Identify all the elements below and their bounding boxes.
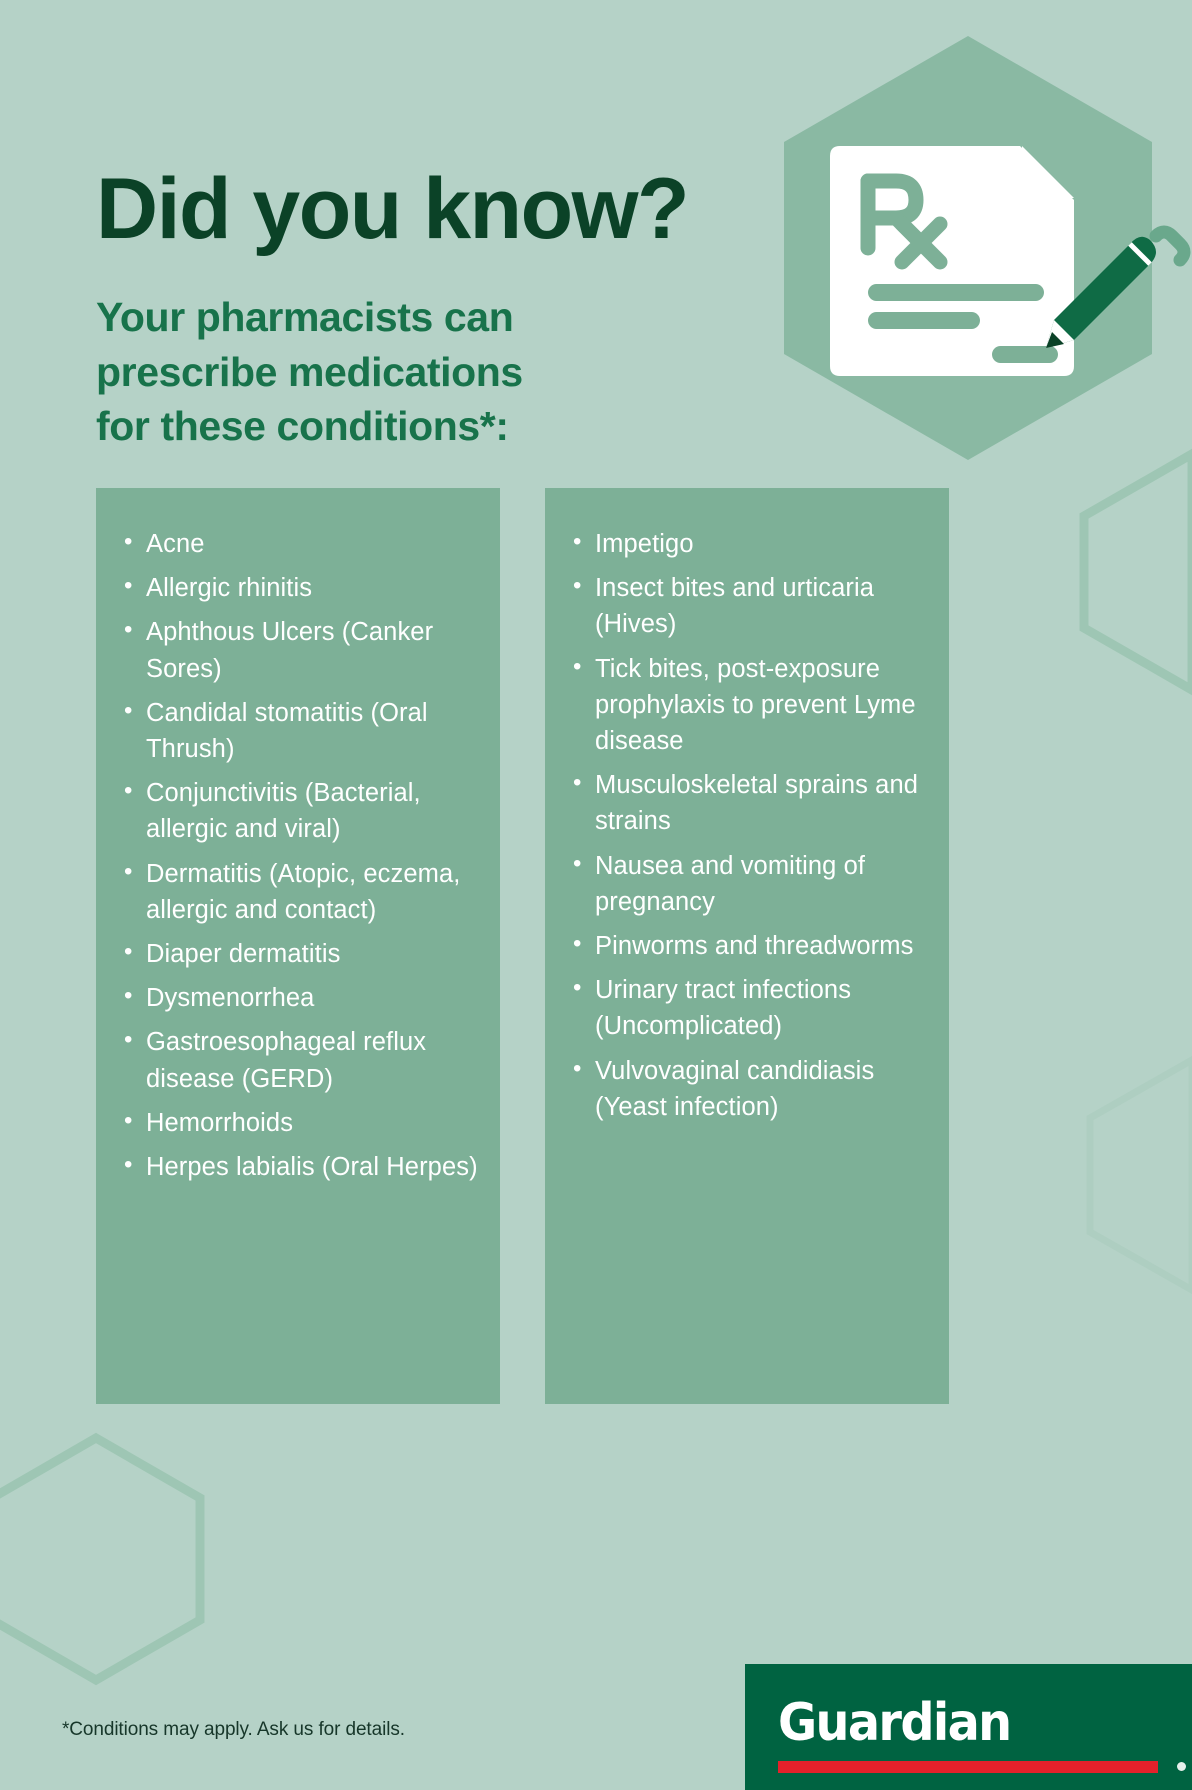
conditions-list-left: Acne Allergic rhinitis Aphthous Ulcers (… xyxy=(96,488,500,1185)
list-item: Conjunctivitis (Bacterial, allergic and … xyxy=(122,775,482,847)
page-title: Did you know? xyxy=(96,166,688,252)
list-item: Impetigo xyxy=(571,526,931,562)
list-item: Dysmenorrhea xyxy=(122,980,482,1016)
rx-prescription-pen-icon xyxy=(744,36,1192,496)
guardian-logo-red-bar xyxy=(778,1761,1158,1773)
list-item: Allergic rhinitis xyxy=(122,570,482,606)
subheading: Your pharmacists can prescribe medicatio… xyxy=(96,290,523,454)
list-item: Dermatitis (Atopic, eczema, allergic and… xyxy=(122,856,482,928)
subheading-line-2: prescribe medications xyxy=(96,345,523,400)
list-item: Vulvovaginal candidiasis (Yeast infectio… xyxy=(571,1053,931,1125)
list-item: Nausea and vomiting of pregnancy xyxy=(571,848,931,920)
list-item: Aphthous Ulcers (Canker Sores) xyxy=(122,614,482,686)
list-item: Diaper dermatitis xyxy=(122,936,482,972)
list-item: Herpes labialis (Oral Herpes) xyxy=(122,1149,482,1185)
conditions-list-right: Impetigo Insect bites and urticaria (Hiv… xyxy=(545,488,949,1125)
list-item: Urinary tract infections (Uncomplicated) xyxy=(571,972,931,1044)
guardian-logo-wordmark: Guardian xyxy=(778,1697,1010,1749)
list-item: Pinworms and threadworms xyxy=(571,928,931,964)
conditions-card-right: Impetigo Insect bites and urticaria (Hiv… xyxy=(545,488,949,1404)
conditions-card-left: Acne Allergic rhinitis Aphthous Ulcers (… xyxy=(96,488,500,1404)
footnote-disclaimer: *Conditions may apply. Ask us for detail… xyxy=(62,1719,405,1741)
subheading-line-3: for these conditions*: xyxy=(96,399,523,454)
list-item: Acne xyxy=(122,526,482,562)
list-item: Tick bites, post-exposure prophylaxis to… xyxy=(571,651,931,760)
list-item: Gastroesophageal reflux disease (GERD) xyxy=(122,1024,482,1096)
list-item: Candidal stomatitis (Oral Thrush) xyxy=(122,695,482,767)
list-item: Hemorrhoids xyxy=(122,1105,482,1141)
subheading-line-1: Your pharmacists can xyxy=(96,290,523,345)
list-item: Musculoskeletal sprains and strains xyxy=(571,767,931,839)
guardian-logo: Guardian xyxy=(745,1664,1192,1790)
registered-trademark-icon xyxy=(1177,1762,1186,1771)
poster-canvas: Did you know? Your pharmacists can presc… xyxy=(0,0,1192,1790)
list-item: Insect bites and urticaria (Hives) xyxy=(571,570,931,642)
